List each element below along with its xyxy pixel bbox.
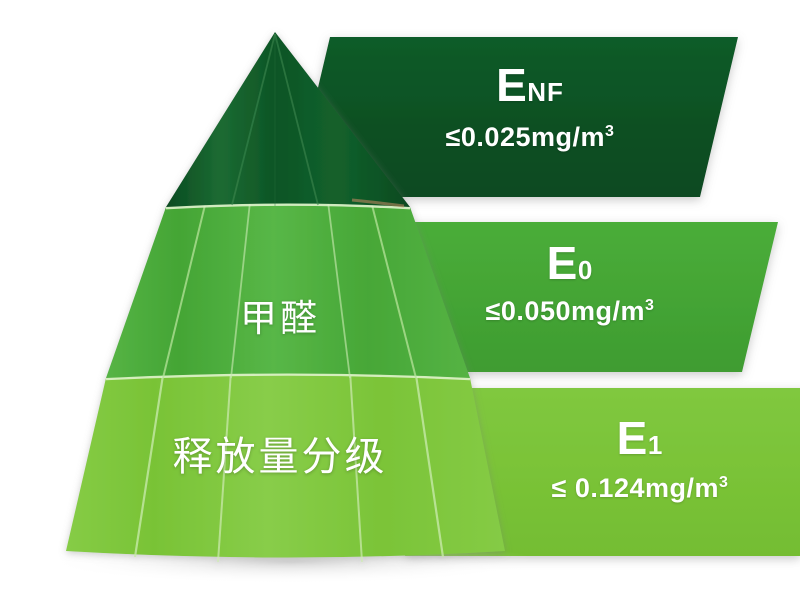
pyramid-and-banners-graphic	[0, 0, 800, 599]
pyramid-tier-middle	[106, 202, 470, 378]
infographic-canvas: ENF ≤0.025mg/m3 E0 ≤0.050mg/m3 E1 ≤ 0.12…	[0, 0, 800, 599]
pyramid-tier-bottom	[66, 371, 505, 562]
